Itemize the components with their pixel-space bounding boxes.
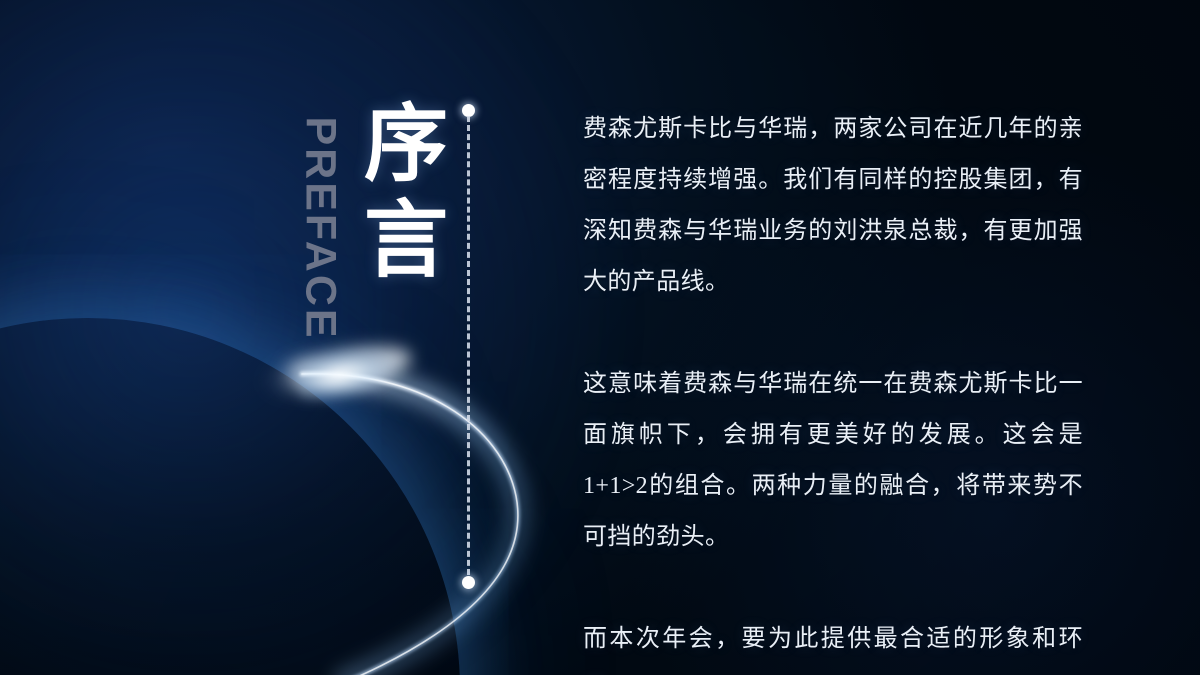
vertical-dotted-divider bbox=[462, 104, 476, 596]
preface-chinese-title: 序 言 bbox=[360, 96, 452, 288]
preface-slide: PREFACE 序 言 费森尤斯卡比与华瑞，两家公司在近几年的亲密程度持续增强。… bbox=[0, 0, 1200, 675]
divider-dot-bottom-icon bbox=[462, 576, 475, 589]
preface-english-title: PREFACE bbox=[299, 117, 342, 317]
divider-dashed-line bbox=[467, 116, 470, 584]
preface-chinese-char-2: 言 bbox=[360, 192, 452, 288]
paragraph-2: 这意味着费森与华瑞在统一在费森尤斯卡比一面旗帜下，会拥有更美好的发展。这会是1+… bbox=[583, 359, 1083, 563]
preface-chinese-char-1: 序 bbox=[360, 96, 452, 192]
paragraph-1: 费森尤斯卡比与华瑞，两家公司在近几年的亲密程度持续增强。我们有同样的控股集团，有… bbox=[583, 104, 1083, 308]
preface-body-text: 费森尤斯卡比与华瑞，两家公司在近几年的亲密程度持续增强。我们有同样的控股集团，有… bbox=[583, 104, 1083, 675]
paragraph-3: 而本次年会，要为此提供最合适的形象和环境。 bbox=[583, 614, 1083, 675]
